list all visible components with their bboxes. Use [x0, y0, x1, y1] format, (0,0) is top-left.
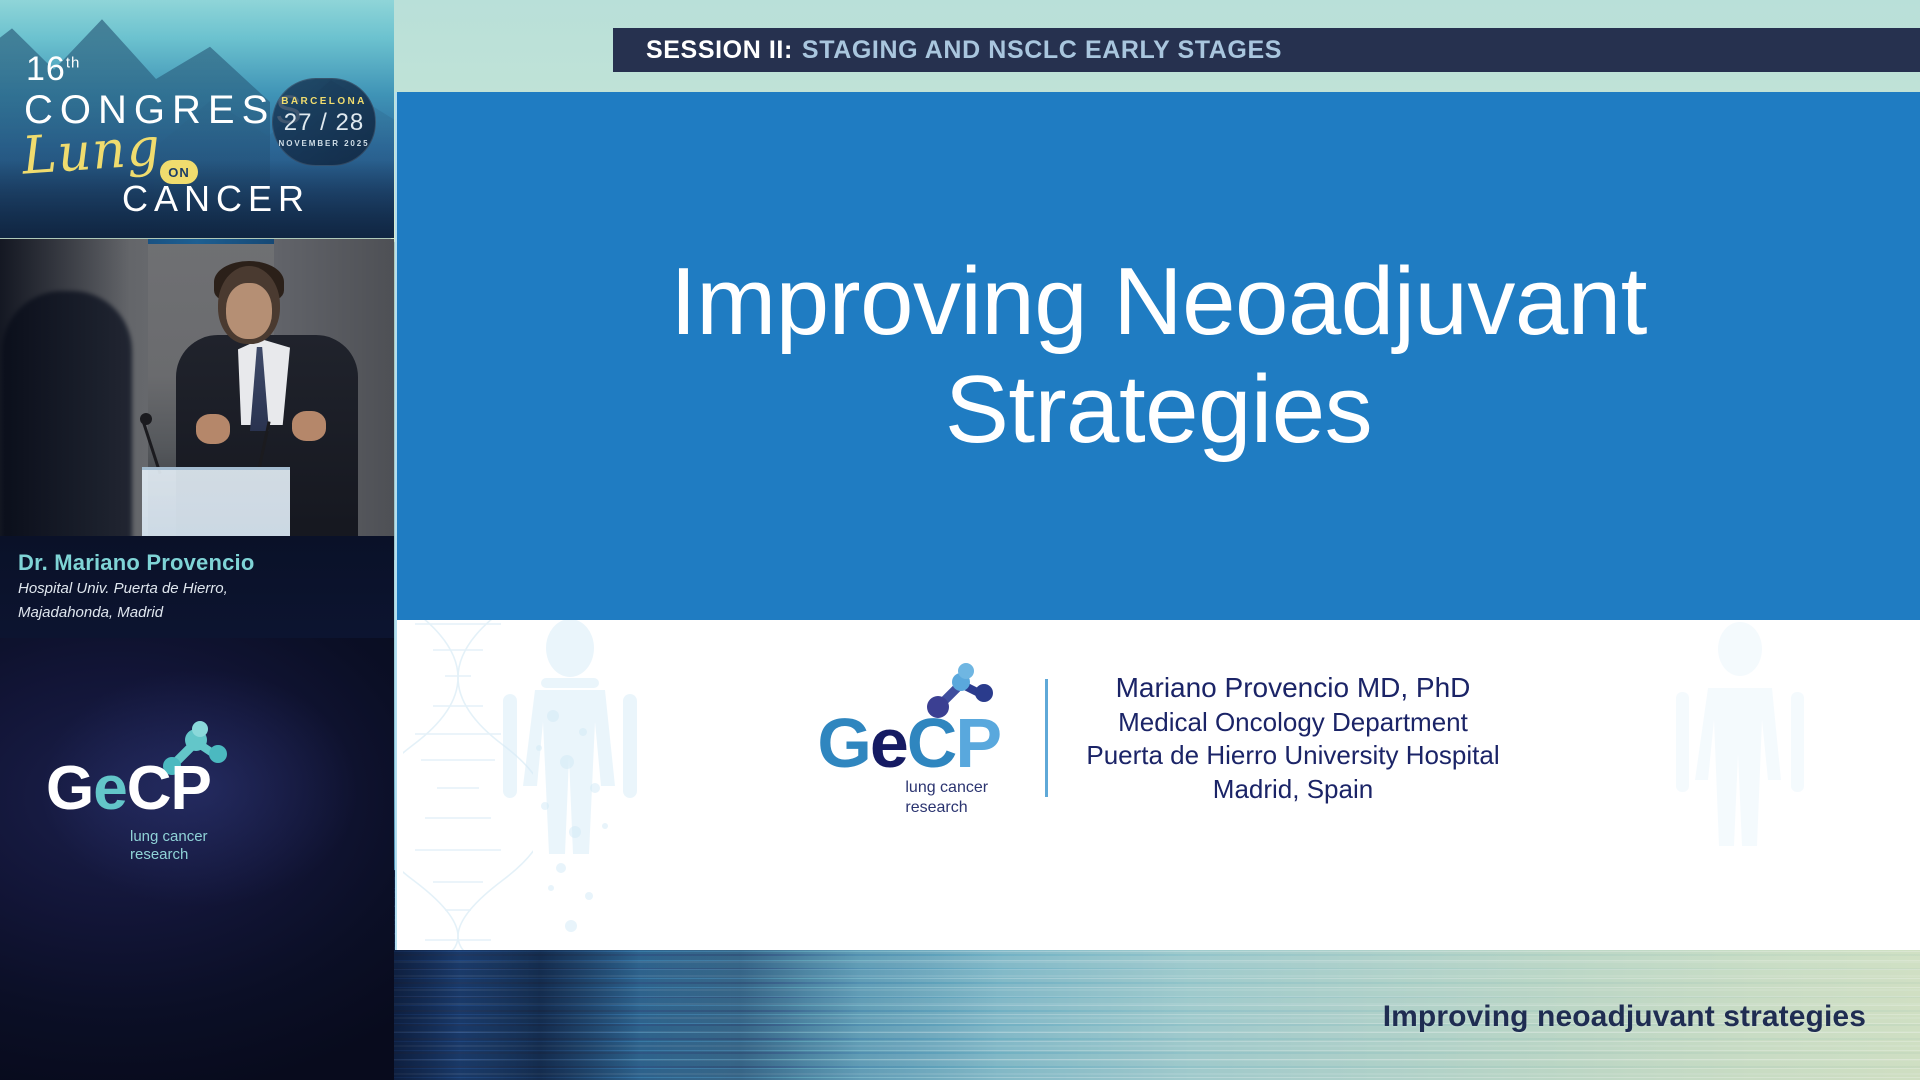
gecp-tagline: lung cancer research — [130, 828, 296, 864]
slide-affiliation-line-1: Mariano Provencio MD, PhD — [1086, 670, 1499, 706]
congress-word-cancer: CANCER — [122, 178, 310, 220]
congress-edition-suffix: th — [66, 55, 81, 72]
congress-logo-panel: 16th CONGRESS Lung ON CANCER BARCELONA 2… — [0, 0, 394, 238]
gecp-letter-p: P — [171, 754, 211, 823]
microphone-head-left — [140, 413, 152, 425]
congress-days: 27 / 28 — [284, 109, 364, 137]
slide-gecp-letter-g: G — [817, 704, 869, 782]
slide-affiliation-line-2: Medical Oncology Department — [1086, 706, 1499, 739]
session-banner: SESSION II: STAGING AND NSCLC EARLY STAG… — [613, 28, 1920, 72]
gecp-tagline-line-2: research — [130, 846, 296, 864]
congress-city: BARCELONA — [281, 96, 367, 107]
gecp-logo-light: GeCP lung cancer research — [817, 658, 1017, 818]
gecp-letter-g: G — [46, 754, 93, 823]
left-sidebar: 16th CONGRESS Lung ON CANCER BARCELONA 2… — [0, 0, 394, 1080]
speaker-name-plate: Dr. Mariano Provencio Hospital Univ. Pue… — [0, 536, 394, 638]
session-banner-title: STAGING AND NSCLC EARLY STAGES — [802, 36, 1282, 65]
video-vignette — [0, 239, 130, 536]
slide-affiliation-line-4: Madrid, Spain — [1086, 773, 1499, 806]
slide-gecp-tagline: lung cancer research — [905, 778, 988, 817]
gecp-logo-dark: GeCP lung cancer research — [46, 758, 296, 864]
broadcast-stage: SESSION II: STAGING AND NSCLC EARLY STAG… — [0, 0, 1920, 1080]
slide-gecp-letter-c: C — [907, 704, 956, 782]
speaker-video-feed[interactable] — [0, 239, 394, 536]
video-speaker-face — [226, 283, 272, 339]
gecp-letter-e: e — [93, 754, 126, 823]
footer-caption: Improving neoadjuvant strategies — [1383, 1000, 1866, 1034]
slide-title-area: Improving Neoadjuvant Strategies — [397, 92, 1920, 620]
congress-month: NOVEMBER 2025 — [279, 139, 370, 148]
congress-word-lung: Lung — [20, 117, 163, 187]
logo-divider — [1045, 679, 1048, 797]
slide-gecp-letter-p: P — [955, 704, 1000, 782]
slide-gecp-tagline-line-2: research — [905, 798, 988, 818]
slide-gecp-tagline-line-1: lung cancer — [905, 778, 988, 798]
slide-branding-row: GeCP lung cancer research Mariano Proven… — [397, 658, 1920, 818]
speaker-affiliation-line-2: Majadahonda, Madrid — [18, 602, 376, 624]
gecp-tagline-line-1: lung cancer — [130, 828, 296, 846]
video-speaker-hand-right — [292, 411, 326, 441]
session-banner-label: SESSION II: — [646, 36, 793, 65]
presentation-slide[interactable]: Improving Neoadjuvant Strategies — [395, 92, 1920, 950]
slide-affiliation-line-3: Puerta de Hierro University Hospital — [1086, 739, 1499, 772]
slide-footer-area: GeCP lung cancer research Mariano Proven… — [397, 620, 1920, 950]
video-speaker-hand-left — [196, 414, 230, 444]
congress-edition: 16th — [26, 50, 80, 89]
video-podium — [142, 467, 290, 536]
slide-title: Improving Neoadjuvant Strategies — [599, 248, 1719, 463]
sponsor-brand-block: GeCP lung cancer research — [0, 638, 394, 1080]
speaker-name: Dr. Mariano Provencio — [18, 550, 376, 576]
congress-edition-number: 16 — [26, 50, 66, 88]
speaker-affiliation-line-1: Hospital Univ. Puerta de Hierro, — [18, 578, 376, 600]
slide-affiliation-block: Mariano Provencio MD, PhD Medical Oncolo… — [1086, 670, 1499, 806]
slide-gecp-letter-e: e — [870, 704, 907, 782]
congress-date-badge: BARCELONA 27 / 28 NOVEMBER 2025 — [272, 78, 376, 166]
gecp-letter-c: C — [127, 754, 171, 823]
